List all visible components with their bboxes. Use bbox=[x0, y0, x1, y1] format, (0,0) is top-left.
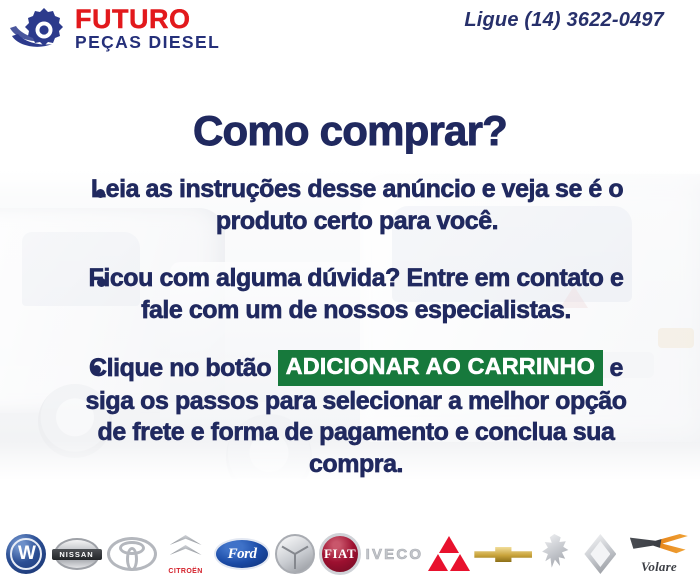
list-item-text-before: Clique no botão bbox=[89, 354, 271, 382]
peugeot-logo bbox=[537, 533, 577, 575]
instructions-list: Leia as instruções desse anúncio e veja … bbox=[0, 168, 700, 480]
banner-header: FUTURO PEÇAS DIESEL Ligue (14) 3622-0497 bbox=[0, 0, 700, 56]
phone-number[interactable]: Ligue (14) 3622-0497 bbox=[464, 9, 664, 32]
banner-content: Como comprar? Leia as instruções desse a… bbox=[0, 0, 700, 586]
list-item-text: Ficou com alguma dúvida? Entre em contat… bbox=[89, 264, 624, 324]
page-title: Como comprar? bbox=[0, 107, 700, 155]
volkswagen-logo bbox=[6, 534, 46, 574]
list-item-text: Leia as instruções desse anúncio e veja … bbox=[91, 175, 623, 235]
toyota-logo bbox=[107, 535, 157, 573]
bullet-dot-icon bbox=[92, 365, 101, 374]
company-logo[interactable]: FUTURO PEÇAS DIESEL bbox=[8, 4, 220, 52]
nissan-logo: NISSAN bbox=[51, 534, 103, 574]
list-item: Clique no botão ADICIONAR AO CARRINHO e … bbox=[0, 350, 700, 480]
volare-logo: Volare bbox=[624, 533, 694, 575]
fiat-logo: FIAT bbox=[319, 533, 361, 575]
promo-banner: FUTURO PEÇAS DIESEL Ligue (14) 3622-0497… bbox=[0, 0, 700, 586]
mitsubishi-logo bbox=[428, 535, 470, 573]
brand-logo-strip: NISSAN CITROËN Ford FIAT IVECO bbox=[0, 524, 700, 586]
bullet-dot-icon bbox=[96, 189, 105, 198]
list-item: Ficou com alguma dúvida? Entre em contat… bbox=[0, 263, 700, 326]
mercedes-benz-logo bbox=[275, 534, 315, 574]
logo-brand-primary: FUTURO bbox=[75, 6, 220, 33]
list-item: Leia as instruções desse anúncio e veja … bbox=[0, 174, 700, 237]
iveco-logo: IVECO bbox=[366, 546, 424, 563]
citroen-logo: CITROËN bbox=[162, 533, 210, 575]
renault-logo bbox=[581, 533, 619, 575]
bullet-dot-icon bbox=[97, 278, 106, 287]
logo-brand-secondary: PEÇAS DIESEL bbox=[75, 34, 220, 52]
gear-cog-icon bbox=[8, 6, 70, 50]
add-to-cart-badge[interactable]: ADICIONAR AO CARRINHO bbox=[278, 350, 603, 386]
ford-logo: Ford bbox=[214, 538, 270, 570]
chevrolet-logo bbox=[474, 540, 532, 568]
